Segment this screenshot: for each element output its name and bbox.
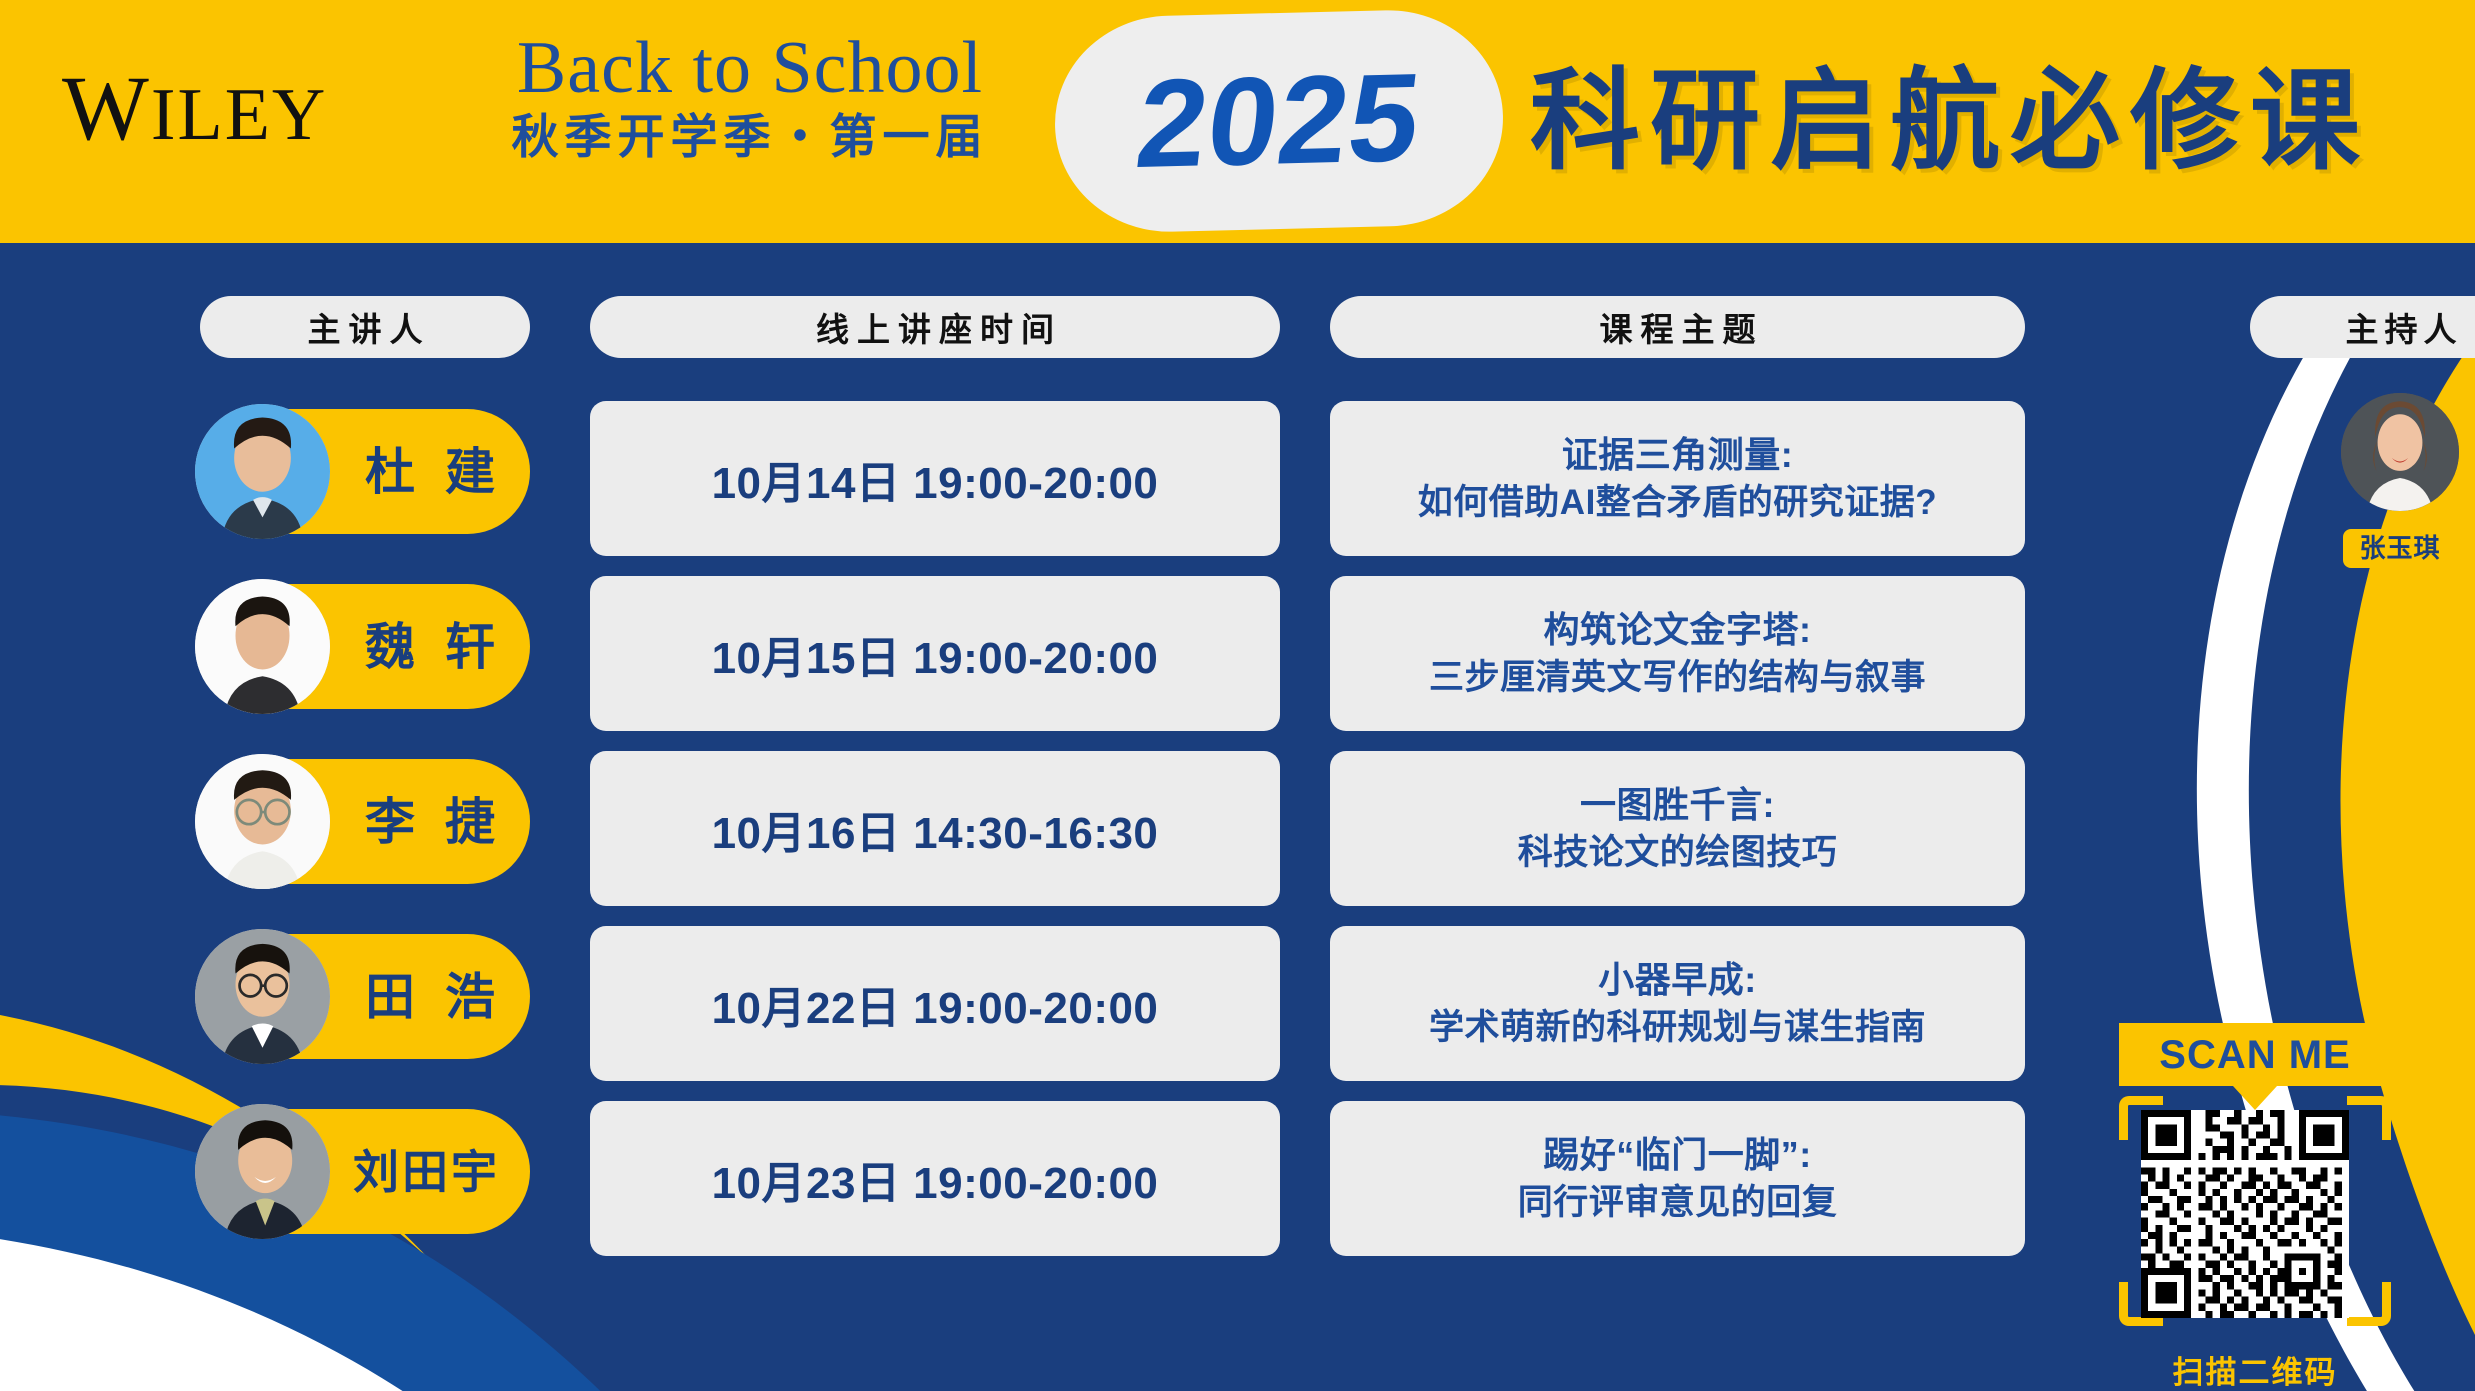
qr-caption: 扫描二维码 即刻注册报名 — [2105, 1352, 2405, 1391]
qr-section: SCAN ME — [2105, 1023, 2405, 1391]
topic-card: 构筑论文金字塔: 三步厘清英文写作的结构与叙事 — [1330, 576, 2025, 731]
topic-subtitle: 如何借助AI整合矛盾的研究证据? — [1418, 479, 1937, 527]
speaker-name: 田 浩 — [340, 972, 520, 1022]
avatar — [195, 754, 330, 889]
host-name-badge: 张玉琪 — [2343, 529, 2456, 568]
topic-subtitle: 科技论文的绘图技巧 — [1518, 829, 1838, 877]
scan-me-label: SCAN ME — [2159, 1035, 2350, 1075]
poster-root: WILEY Back to School 秋季开学季・第一届 2025 科研启航… — [0, 0, 2475, 1391]
time-card: 10月14日 19:00-20:00 — [590, 401, 1280, 556]
table-row: 田 浩 10月22日 19:00-20:00 小器早成: 学术萌新的科研规划与谋… — [0, 926, 2100, 1106]
year-badge-text: 2025 — [1048, 53, 1510, 189]
topic-card: 一图胜千言: 科技论文的绘图技巧 — [1330, 751, 2025, 906]
page-title: 科研启航必修课 — [1530, 67, 2370, 177]
year-badge: 2025 — [1052, 8, 1505, 235]
speaker-name: 李 捷 — [340, 797, 520, 847]
host-panel: 张玉琪 — [2250, 393, 2475, 568]
back-to-school-title-cn: 秋季开学季・第一届 — [440, 110, 1060, 164]
speaker-pill[interactable]: 田 浩 — [200, 934, 530, 1059]
back-to-school-block: Back to School 秋季开学季・第一届 — [440, 30, 1060, 164]
qr-corner-bottom-right-icon — [2347, 1282, 2391, 1326]
avatar — [195, 929, 330, 1064]
header-banner: WILEY Back to School 秋季开学季・第一届 2025 科研启航… — [0, 0, 2475, 243]
avatar — [195, 579, 330, 714]
wiley-logo-rest: ILEY — [151, 74, 328, 156]
avatar — [195, 1104, 330, 1239]
topic-title: 小器早成: — [1598, 955, 1757, 1005]
speaker-name: 魏 轩 — [340, 622, 520, 672]
topic-subtitle: 同行评审意见的回复 — [1518, 1179, 1838, 1227]
topic-subtitle: 三步厘清英文写作的结构与叙事 — [1429, 654, 1926, 702]
column-header-time: 线上讲座时间 — [590, 296, 1280, 358]
topic-card: 踢好“临门一脚”: 同行评审意见的回复 — [1330, 1101, 2025, 1256]
time-card: 10月22日 19:00-20:00 — [590, 926, 1280, 1081]
qr-caption-line-1: 扫描二维码 — [2105, 1352, 2405, 1391]
speaker-name: 刘田宇 — [330, 1149, 520, 1195]
speaker-pill[interactable]: 刘田宇 — [200, 1109, 530, 1234]
time-card: 10月23日 19:00-20:00 — [590, 1101, 1280, 1256]
column-header-host: 主持人 — [2250, 296, 2475, 358]
time-card: 10月15日 19:00-20:00 — [590, 576, 1280, 731]
topic-subtitle: 学术萌新的科研规划与谋生指南 — [1429, 1004, 1926, 1052]
column-header-topic: 课程主题 — [1330, 296, 2025, 358]
table-row: 李 捷 10月16日 14:30-16:30 一图胜千言: 科技论文的绘图技巧 — [0, 751, 2100, 931]
table-row: 杜 建 10月14日 19:00-20:00 证据三角测量: 如何借助AI整合矛… — [0, 401, 2100, 581]
scan-me-banner: SCAN ME — [2119, 1023, 2391, 1086]
schedule-grid: 主讲人 线上讲座时间 课程主题 主持人 杜 建 10月14日 19:00-20:… — [0, 243, 2475, 1391]
table-row: 魏 轩 10月15日 19:00-20:00 构筑论文金字塔: 三步厘清英文写作… — [0, 576, 2100, 756]
topic-title: 踢好“临门一脚”: — [1543, 1130, 1812, 1180]
topic-title: 构筑论文金字塔: — [1544, 605, 1812, 655]
qr-code[interactable] — [2141, 1110, 2349, 1318]
topic-card: 证据三角测量: 如何借助AI整合矛盾的研究证据? — [1330, 401, 2025, 556]
topic-title: 一图胜千言: — [1580, 780, 1775, 830]
time-card: 10月16日 14:30-16:30 — [590, 751, 1280, 906]
wiley-logo-initial: W — [62, 57, 151, 159]
column-header-speaker: 主讲人 — [200, 296, 530, 358]
speaker-pill[interactable]: 李 捷 — [200, 759, 530, 884]
avatar — [195, 404, 330, 539]
speaker-name: 杜 建 — [340, 447, 520, 497]
qr-frame — [2119, 1096, 2391, 1326]
speaker-pill[interactable]: 魏 轩 — [200, 584, 530, 709]
table-row: 刘田宇 10月23日 19:00-20:00 踢好“临门一脚”: 同行评审意见的… — [0, 1101, 2100, 1281]
wiley-logo: WILEY — [62, 62, 327, 154]
qr-corner-top-right-icon — [2347, 1096, 2391, 1140]
host-avatar — [2341, 393, 2459, 511]
speaker-pill[interactable]: 杜 建 — [200, 409, 530, 534]
topic-title: 证据三角测量: — [1562, 430, 1794, 480]
back-to-school-title-en: Back to School — [440, 30, 1060, 108]
topic-card: 小器早成: 学术萌新的科研规划与谋生指南 — [1330, 926, 2025, 1081]
